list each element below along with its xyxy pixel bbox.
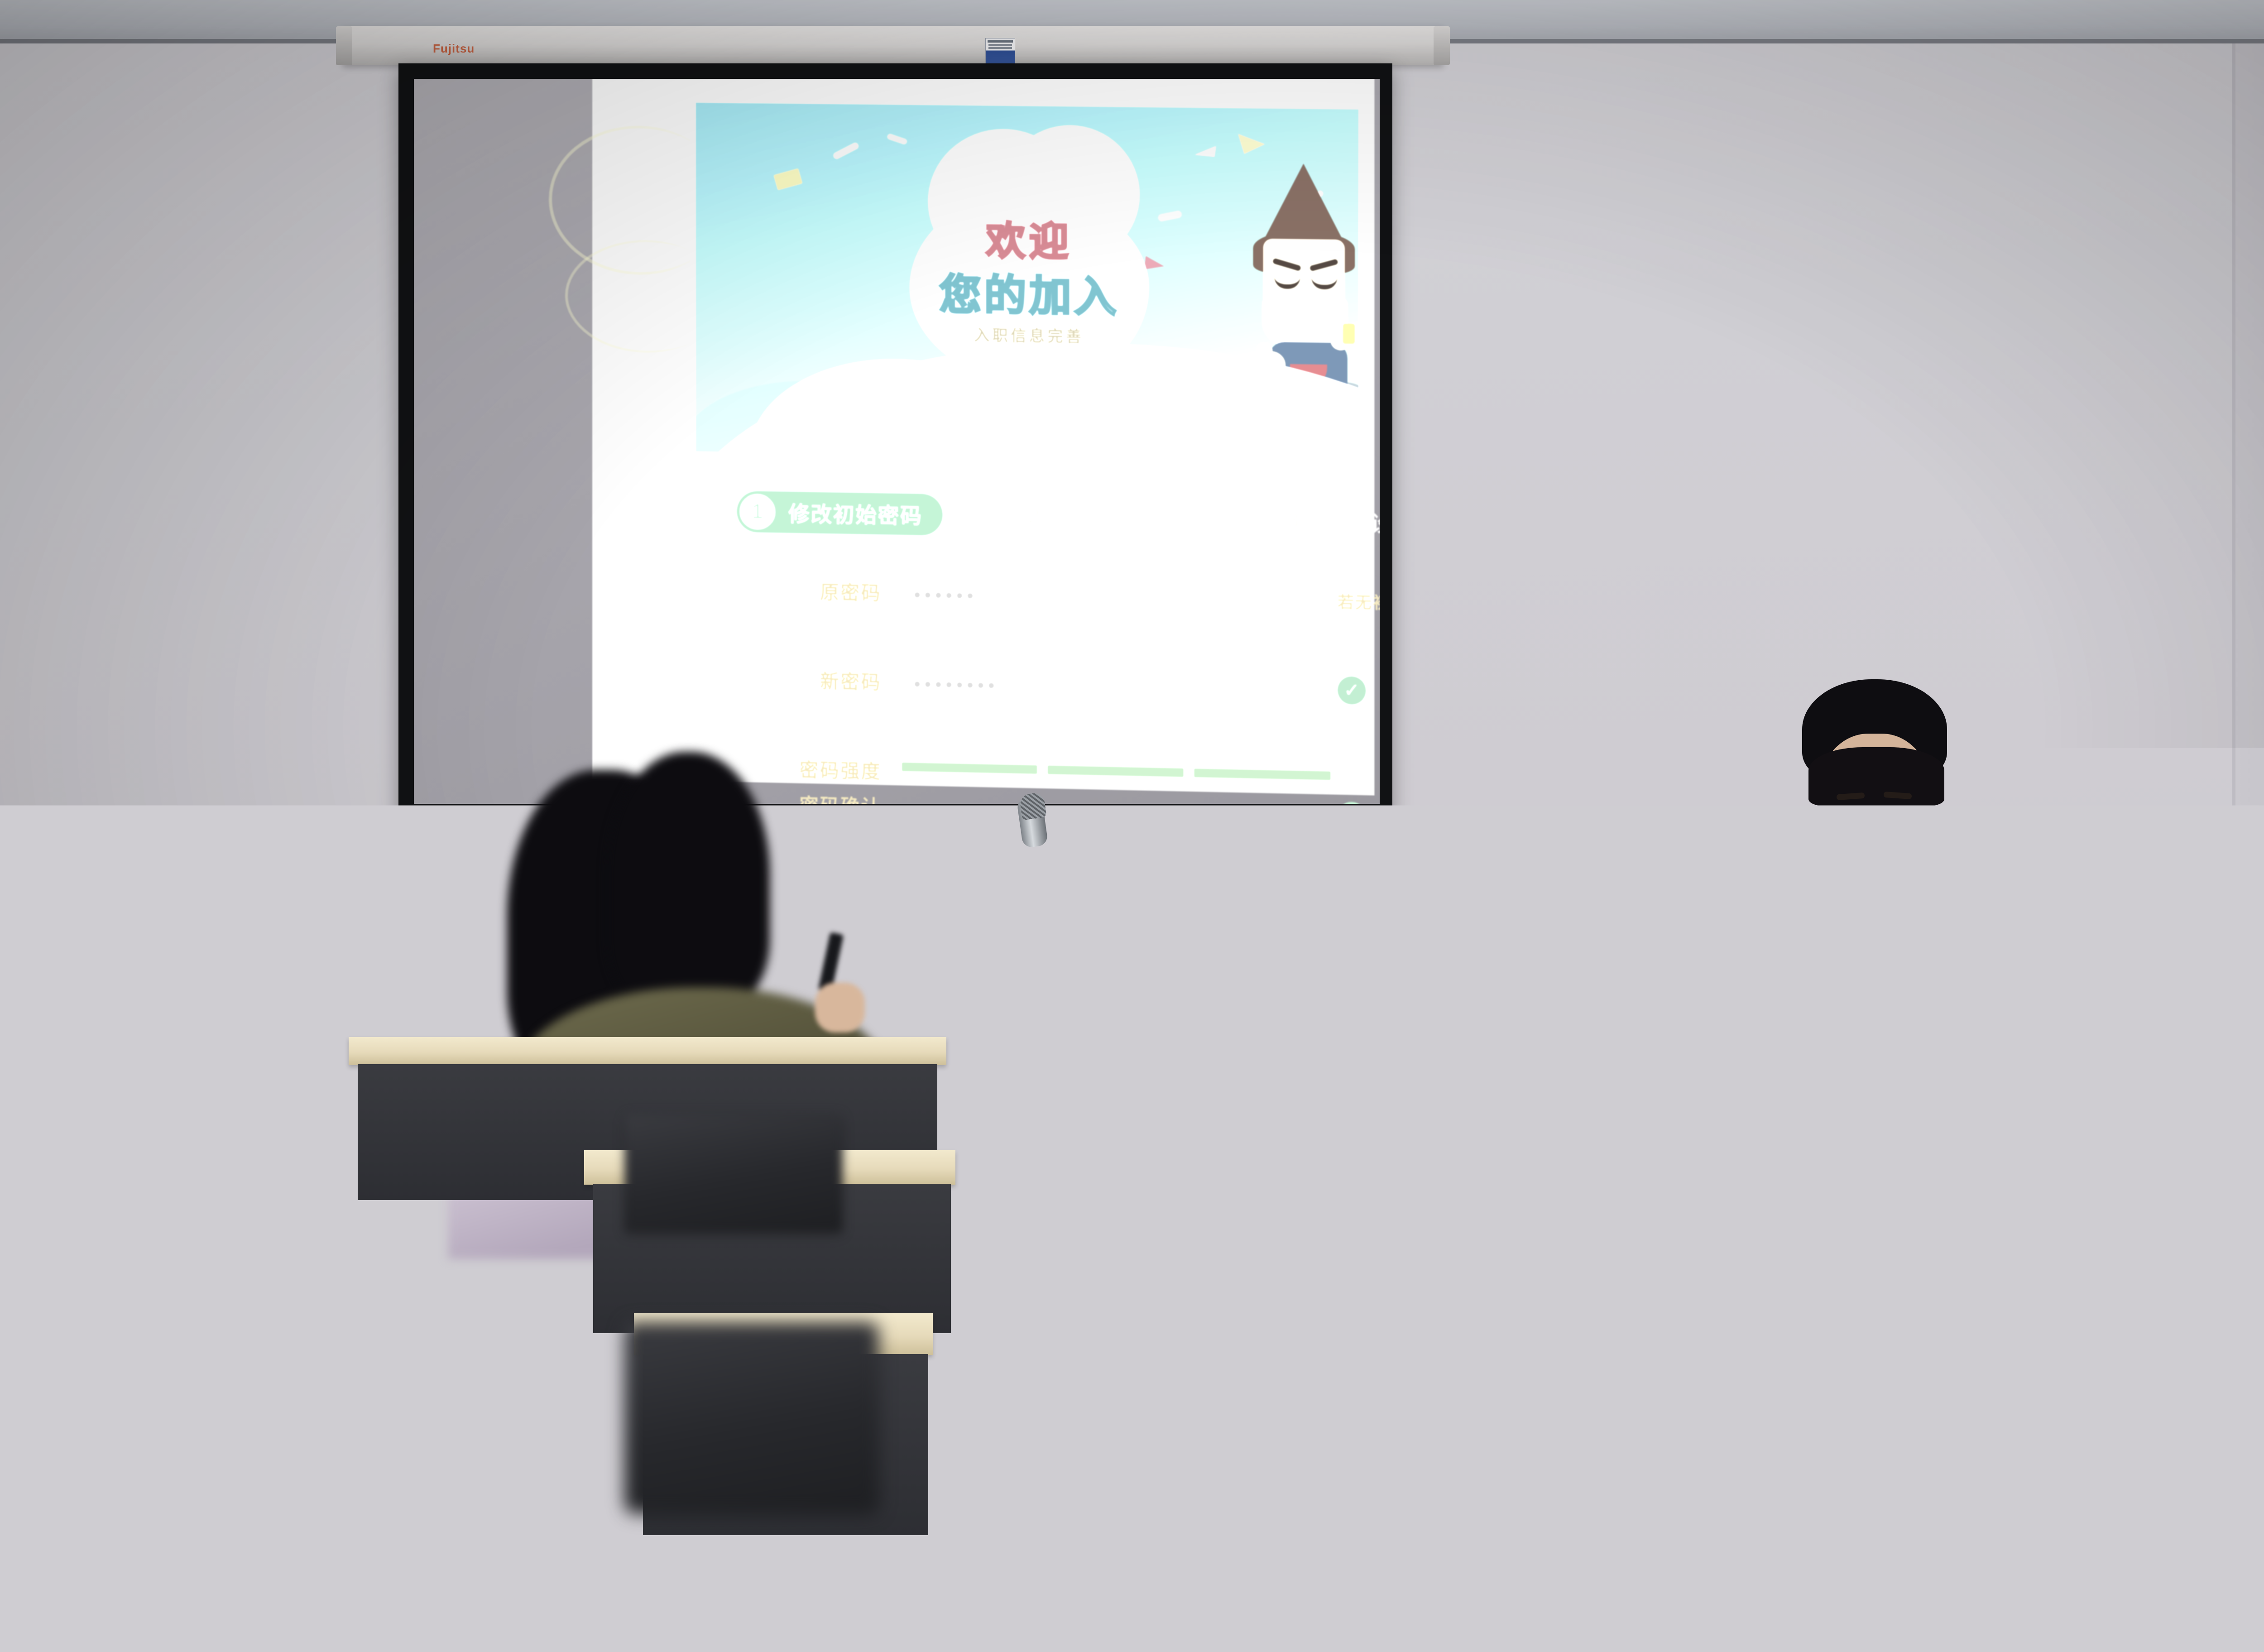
projection-screen-housing: Fujitsu bbox=[342, 26, 1444, 65]
audience-chair[interactable] bbox=[2001, 1295, 2264, 1513]
pen bbox=[1378, 915, 1383, 939]
empty-chair[interactable] bbox=[1064, 860, 1227, 1010]
housing-end-cap bbox=[336, 26, 352, 65]
step-item-2[interactable]: 2 完善个人信息 bbox=[1014, 496, 1201, 539]
audience-desk-panel bbox=[1929, 1575, 2264, 1652]
new-password-input[interactable]: •••••••• bbox=[902, 647, 1316, 723]
housing-end-cap bbox=[1434, 26, 1450, 65]
chevron-right-icon: 〉 bbox=[1223, 499, 1252, 541]
pen-holder bbox=[1350, 935, 1391, 1003]
form-row-old-password: 原密码 •••••• 若无初始密码，则原密码可不填 bbox=[719, 554, 1354, 639]
audience-chair[interactable] bbox=[91, 1159, 480, 1395]
confetti bbox=[1235, 134, 1265, 157]
audience-desk-panel bbox=[1721, 1100, 2228, 1244]
old-password-hint: 若无初始密码，则原密码可不填 bbox=[1337, 589, 1380, 617]
projection-screen-surface: 欢迎 您的加入 入职信息完善 bbox=[414, 79, 1380, 804]
classroom-presentation-photo: Fujitsu bbox=[0, 0, 2264, 1652]
step-number: 3 bbox=[1273, 501, 1313, 541]
step-item-1[interactable]: 1 修改初始密码 bbox=[737, 490, 943, 536]
banner-title-line1: 欢迎 bbox=[910, 208, 1148, 268]
confetti bbox=[774, 168, 803, 190]
new-password-label: 新密码 bbox=[777, 665, 882, 695]
step-number: 2 bbox=[1014, 496, 1054, 536]
slide-card: 欢迎 您的加入 入职信息完善 bbox=[691, 84, 1368, 795]
step-indicator: 1 修改初始密码 〉 2 完善个人信息 〉 3 头像设置 bbox=[737, 486, 1380, 548]
fujitsu-logo: Fujitsu bbox=[433, 42, 475, 56]
old-password-label: 原密码 bbox=[777, 576, 882, 605]
step-label: 修改初始密码 bbox=[788, 497, 922, 529]
confetti bbox=[887, 133, 907, 145]
old-password-value: •••••• bbox=[914, 582, 977, 608]
pen bbox=[1368, 907, 1373, 938]
step-number: 1 bbox=[738, 492, 777, 532]
pen bbox=[1356, 912, 1361, 938]
confetti bbox=[1157, 210, 1182, 222]
old-password-input[interactable]: •••••• bbox=[902, 557, 1316, 634]
banner-title-line2: 您的加入 bbox=[910, 260, 1148, 324]
audience-desk-top bbox=[1712, 1069, 2237, 1100]
confirm-password-value: •••••••• bbox=[913, 795, 998, 804]
new-password-valid-check-icon: ✓ bbox=[1337, 676, 1366, 705]
audience-desk-top bbox=[1920, 1526, 2264, 1576]
desk-leg bbox=[1372, 1378, 1388, 1491]
presenter-eye bbox=[1887, 809, 1910, 815]
microphone-stem bbox=[1031, 879, 1041, 989]
form-row-new-password: 新密码 •••••••• ✓ bbox=[719, 643, 1354, 729]
step-label: 完善个人信息 bbox=[1066, 502, 1201, 534]
confirm-password-valid-check-icon: ✓ bbox=[1337, 802, 1366, 804]
new-password-value: •••••••• bbox=[914, 672, 998, 698]
step-item-3[interactable]: 3 头像设置 bbox=[1273, 501, 1380, 543]
audience-chair[interactable] bbox=[625, 1322, 878, 1513]
projection-screen-frame: 欢迎 您的加入 入职信息完善 bbox=[398, 63, 1392, 817]
welcome-banner: 欢迎 您的加入 入职信息完善 bbox=[696, 102, 1358, 462]
paper-plane-icon bbox=[1194, 146, 1218, 160]
audience-chair[interactable] bbox=[1530, 942, 1725, 1073]
desk-leg bbox=[993, 1378, 1009, 1491]
audience-desk-top bbox=[349, 1037, 946, 1065]
chevron-right-icon: 〉 bbox=[964, 494, 993, 537]
ashtray-rim bbox=[875, 981, 939, 989]
projected-slide: 欢迎 您的加入 入职信息完善 bbox=[592, 79, 1374, 796]
audience-desk-top bbox=[1675, 1232, 2255, 1270]
banner-subtitle: 入职信息完善 bbox=[910, 322, 1148, 348]
front-desk-panel bbox=[946, 1055, 1453, 1381]
presenter-eye bbox=[1839, 810, 1862, 816]
step-label: 头像设置 bbox=[1325, 506, 1380, 538]
audience-chair[interactable] bbox=[625, 1114, 842, 1232]
presenter-hair-front bbox=[1808, 747, 1944, 806]
confetti bbox=[832, 142, 859, 160]
